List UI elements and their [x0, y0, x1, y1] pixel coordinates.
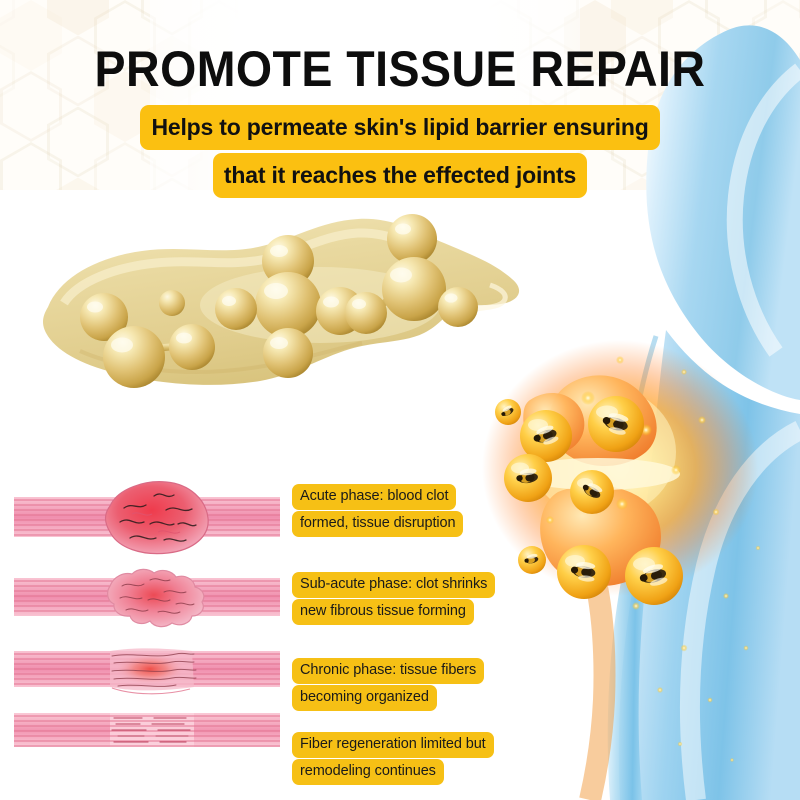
caption-fiber-regeneration: Fiber regeneration limited but remodelin… [292, 732, 542, 786]
molecule-sphere [263, 328, 313, 378]
molecule-sphere [103, 326, 165, 388]
caption-line: new fibrous tissue forming [292, 599, 474, 625]
caption-line: becoming organized [292, 685, 437, 711]
molecule-sphere [438, 287, 478, 327]
hexagon-tile [0, 36, 15, 107]
fiber-regeneration-diagram [14, 706, 280, 756]
caption-line: Fiber regeneration limited but [292, 732, 494, 758]
hexagon-tile [47, 0, 109, 36]
poster-canvas: PROMOTE TISSUE REPAIR Helps to permeate … [0, 0, 800, 800]
molecule-sphere [215, 288, 257, 330]
caption-acute-phase: Acute phase: blood clot formed, tissue d… [292, 484, 542, 538]
subtitle-banner: Helps to permeate skin's lipid barrier e… [0, 105, 800, 198]
bee-droplet [570, 470, 614, 514]
caption-chronic-phase: Chronic phase: tissue fibers becoming or… [292, 658, 542, 712]
sub-acute-phase-fiber-diagram [14, 562, 280, 632]
chronic-phase-fiber-diagram [14, 641, 280, 699]
subtitle-line-2: that it reaches the effected joints [213, 153, 587, 198]
bee-droplet [518, 546, 546, 574]
bee-droplet [557, 545, 611, 599]
bee-droplet [588, 396, 644, 452]
molecule-sphere [387, 214, 437, 264]
caption-line: Chronic phase: tissue fibers [292, 658, 484, 684]
caption-line: Acute phase: blood clot [292, 484, 456, 510]
acute-phase-fiber-diagram [14, 478, 280, 556]
bee-droplet [625, 547, 683, 605]
molecule-sphere [382, 257, 446, 321]
fiber-stage-diagrams [14, 478, 284, 793]
serum-molecule-graphic [20, 185, 560, 415]
molecule-sphere [159, 290, 185, 316]
subtitle-line-1: Helps to permeate skin's lipid barrier e… [140, 105, 659, 150]
caption-line: formed, tissue disruption [292, 511, 463, 537]
molecule-sphere [345, 292, 387, 334]
caption-sub-acute-phase: Sub-acute phase: clot shrinks new fibrou… [292, 572, 542, 626]
molecule-sphere [169, 324, 215, 370]
hexagon-tile [0, 0, 15, 36]
page-title: PROMOTE TISSUE REPAIR [28, 40, 772, 98]
caption-line: Sub-acute phase: clot shrinks [292, 572, 495, 598]
caption-line: remodeling continues [292, 759, 444, 785]
serum-svg [20, 185, 560, 415]
